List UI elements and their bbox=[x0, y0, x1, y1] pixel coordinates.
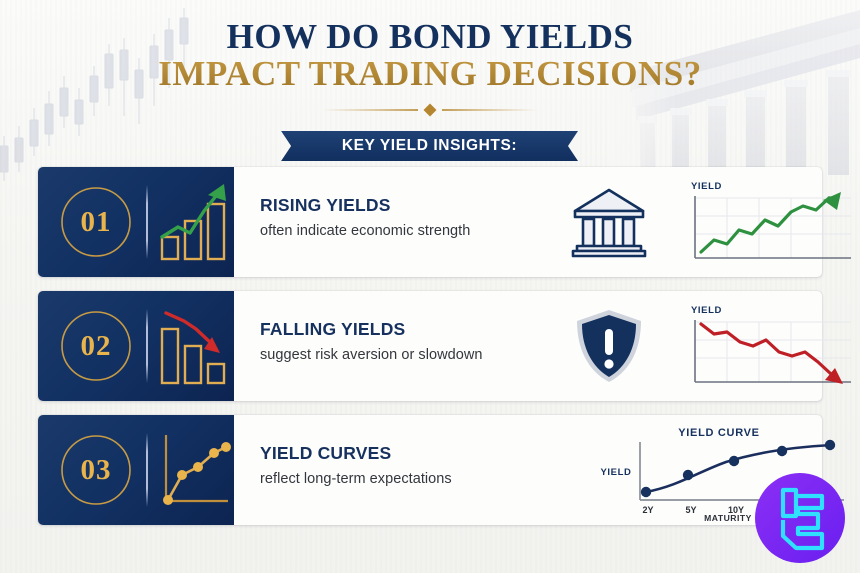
chart-label: YIELD bbox=[691, 181, 722, 192]
row-number: 03 bbox=[58, 432, 134, 508]
row-number: 01 bbox=[58, 184, 134, 260]
row-subline: often indicate economic strength bbox=[260, 223, 560, 239]
row-subline: reflect long-term expectations bbox=[260, 471, 560, 487]
title-line-1: HOW DO BOND YIELDS bbox=[0, 18, 860, 55]
chart-title: YIELD CURVE bbox=[678, 427, 759, 439]
row-headline: YIELD CURVES bbox=[260, 443, 560, 464]
banner-label: KEY YIELD INSIGHTS: bbox=[281, 131, 578, 161]
row-text-block: RISING YIELDS often indicate economic st… bbox=[260, 195, 560, 239]
rising-yield-line-chart: YIELD bbox=[683, 176, 855, 268]
lc-monogram-logo[interactable] bbox=[752, 470, 848, 566]
bank-building-icon bbox=[568, 181, 650, 263]
shield-alert-icon bbox=[568, 305, 650, 387]
falling-bar-chart-icon bbox=[156, 299, 234, 393]
row-headline: RISING YIELDS bbox=[260, 195, 560, 216]
row-text-block: FALLING YIELDS suggest risk aversion or … bbox=[260, 319, 560, 363]
chart-label: YIELD bbox=[691, 305, 722, 316]
panel-divider bbox=[146, 309, 148, 383]
insight-row-rising-yields: 01 RISING YIELDS often indicate economic… bbox=[38, 167, 822, 277]
row-number-panel: 02 bbox=[38, 291, 234, 401]
row-subline: suggest risk aversion or slowdown bbox=[260, 347, 560, 363]
row-headline: FALLING YIELDS bbox=[260, 319, 560, 340]
row-number-panel: 03 bbox=[38, 415, 234, 525]
yield-curve-icon bbox=[156, 423, 234, 517]
panel-divider bbox=[146, 185, 148, 259]
row-number: 02 bbox=[58, 308, 134, 384]
infographic-canvas: HOW DO BOND YIELDS IMPACT TRADING DECISI… bbox=[0, 0, 860, 573]
page-title: HOW DO BOND YIELDS IMPACT TRADING DECISI… bbox=[0, 18, 860, 92]
x-tick-2y: 2Y bbox=[642, 505, 653, 515]
chart-ylabel: YIELD bbox=[601, 467, 632, 478]
row-text-block: YIELD CURVES reflect long-term expectati… bbox=[260, 443, 560, 487]
title-line-2: IMPACT TRADING DECISIONS? bbox=[0, 55, 860, 92]
x-tick-5y: 5Y bbox=[685, 505, 696, 515]
insight-row-yield-curves: 03 YIELD CURVES reflect long-term expect… bbox=[38, 415, 822, 525]
panel-divider bbox=[146, 433, 148, 507]
key-insights-banner: KEY YIELD INSIGHTS: bbox=[281, 131, 578, 161]
row-number-panel: 01 bbox=[38, 167, 234, 277]
chart-xlabel: MATURITY bbox=[704, 513, 752, 522]
falling-yield-line-chart: YIELD bbox=[683, 300, 855, 392]
rising-bar-chart-icon bbox=[156, 175, 234, 269]
diamond-divider-ornament bbox=[0, 100, 860, 120]
insight-row-falling-yields: 02 FALLING YIELDS suggest risk aversion … bbox=[38, 291, 822, 401]
